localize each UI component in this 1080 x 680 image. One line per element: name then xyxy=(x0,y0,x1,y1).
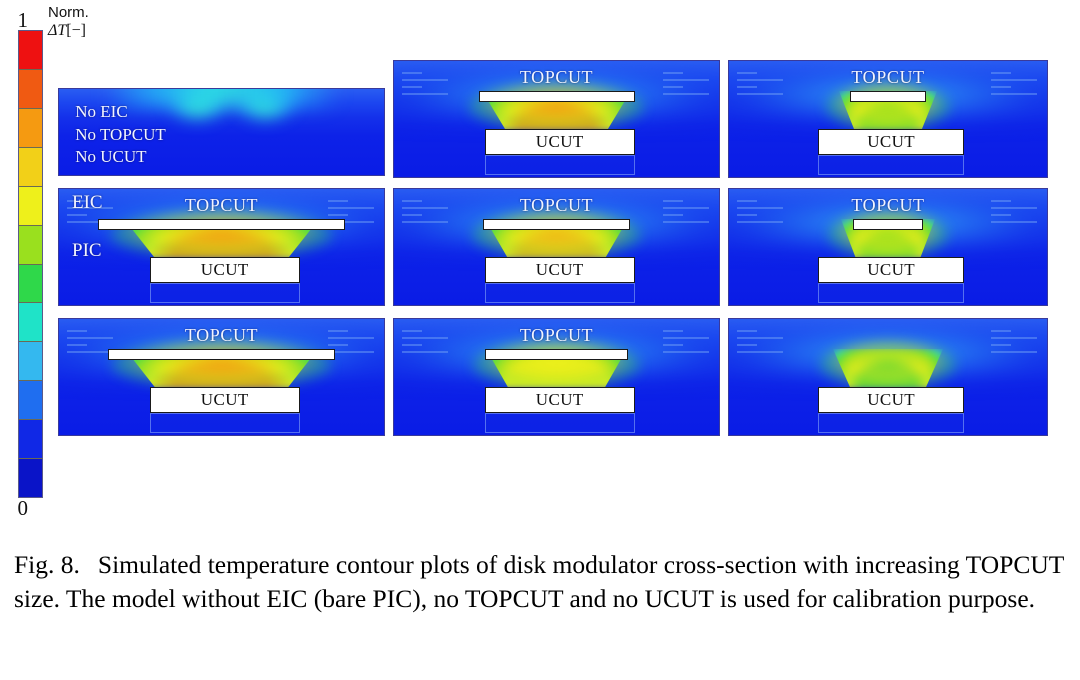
colorbar-band-0 xyxy=(19,31,42,70)
topcut-label: TOPCUT xyxy=(729,195,1047,216)
colorbar-band-10 xyxy=(19,420,42,459)
topcut-label: TOPCUT xyxy=(729,67,1047,88)
topcut-label: TOPCUT xyxy=(59,195,384,216)
colorbar-band-6 xyxy=(19,265,42,304)
config-label-line-1: No TOPCUT xyxy=(75,124,166,147)
substrate-outline xyxy=(150,413,300,433)
calibration-config-label: No EICNo TOPCUTNo UCUT xyxy=(75,101,166,169)
colorbar-symbol: ΔT xyxy=(48,22,66,39)
eic-layer-label: EIC xyxy=(72,192,103,214)
colorbar-band-7 xyxy=(19,303,42,342)
ucut-block: UCUT xyxy=(818,129,964,155)
figure-caption-text: Simulated temperature contour plots of d… xyxy=(14,550,1064,613)
contour-panel-p3: UCUTTOPCUT xyxy=(728,60,1048,178)
colorbar-title-line1: Norm. xyxy=(48,4,89,22)
ucut-block: UCUT xyxy=(485,257,635,283)
contour-panel-p2: UCUTTOPCUT xyxy=(393,60,720,178)
topcut-block xyxy=(850,91,926,102)
colorbar-band-9 xyxy=(19,381,42,420)
substrate-outline xyxy=(150,283,300,303)
contour-panel-p7: UCUTTOPCUT xyxy=(58,318,385,436)
topcut-label: TOPCUT xyxy=(394,67,719,88)
colorbar-band-5 xyxy=(19,226,42,265)
topcut-block xyxy=(853,219,923,230)
ucut-block: UCUT xyxy=(150,257,300,283)
topcut-label: TOPCUT xyxy=(394,195,719,216)
topcut-label: TOPCUT xyxy=(59,325,384,346)
config-label-line-2: No UCUT xyxy=(75,146,166,169)
topcut-block xyxy=(483,219,629,230)
plume-glow xyxy=(820,342,955,388)
topcut-block xyxy=(108,349,336,360)
ucut-block: UCUT xyxy=(150,387,300,413)
config-label-line-0: No EIC xyxy=(75,101,166,124)
substrate-outline xyxy=(818,155,964,175)
colorbar-band-8 xyxy=(19,342,42,381)
colorbar-band-11 xyxy=(19,459,42,497)
contour-panel-p9: UCUT xyxy=(728,318,1048,436)
topcut-block xyxy=(479,91,635,102)
colorbar-band-2 xyxy=(19,109,42,148)
figure-number: Fig. 8. xyxy=(14,550,80,579)
colorbar-min-label: 0 xyxy=(4,496,28,521)
figure-caption: Fig. 8.Simulated temperature contour plo… xyxy=(14,548,1064,617)
substrate-outline xyxy=(485,155,635,175)
ucut-block: UCUT xyxy=(818,257,964,283)
colorbar-band-1 xyxy=(19,70,42,109)
pic-layer-label: PIC xyxy=(72,240,102,262)
ucut-block: UCUT xyxy=(818,387,964,413)
topcut-label: TOPCUT xyxy=(394,325,719,346)
ucut-block: UCUT xyxy=(485,129,635,155)
contour-panel-p5: UCUTTOPCUT xyxy=(393,188,720,306)
contour-panel-p1: No EICNo TOPCUTNo UCUT xyxy=(58,88,385,176)
contour-panel-p6: UCUTTOPCUT xyxy=(728,188,1048,306)
substrate-outline xyxy=(818,413,964,433)
colorbar-units: [−] xyxy=(66,22,86,39)
substrate-outline xyxy=(485,413,635,433)
colorbar-title: Norm. ΔT[−] xyxy=(48,4,89,41)
substrate-outline xyxy=(818,283,964,303)
colorbar-title-line2: ΔT[−] xyxy=(48,22,89,41)
colorbar-band-4 xyxy=(19,187,42,226)
colorbar-band-3 xyxy=(19,148,42,187)
substrate-outline xyxy=(485,283,635,303)
topcut-block xyxy=(98,219,345,230)
topcut-block xyxy=(485,349,628,360)
eic-chip-detail xyxy=(735,326,787,356)
ucut-block: UCUT xyxy=(485,387,635,413)
colorbar-gradient xyxy=(18,30,43,498)
eic-chip-detail xyxy=(989,326,1041,356)
contour-panel-p4: UCUTTOPCUTEICPIC xyxy=(58,188,385,306)
contour-panel-p8: UCUTTOPCUT xyxy=(393,318,720,436)
figure-plot-area: 1 Norm. ΔT[−] 0 No EICNo TOPCUTNo UCUTUC… xyxy=(0,0,1080,530)
